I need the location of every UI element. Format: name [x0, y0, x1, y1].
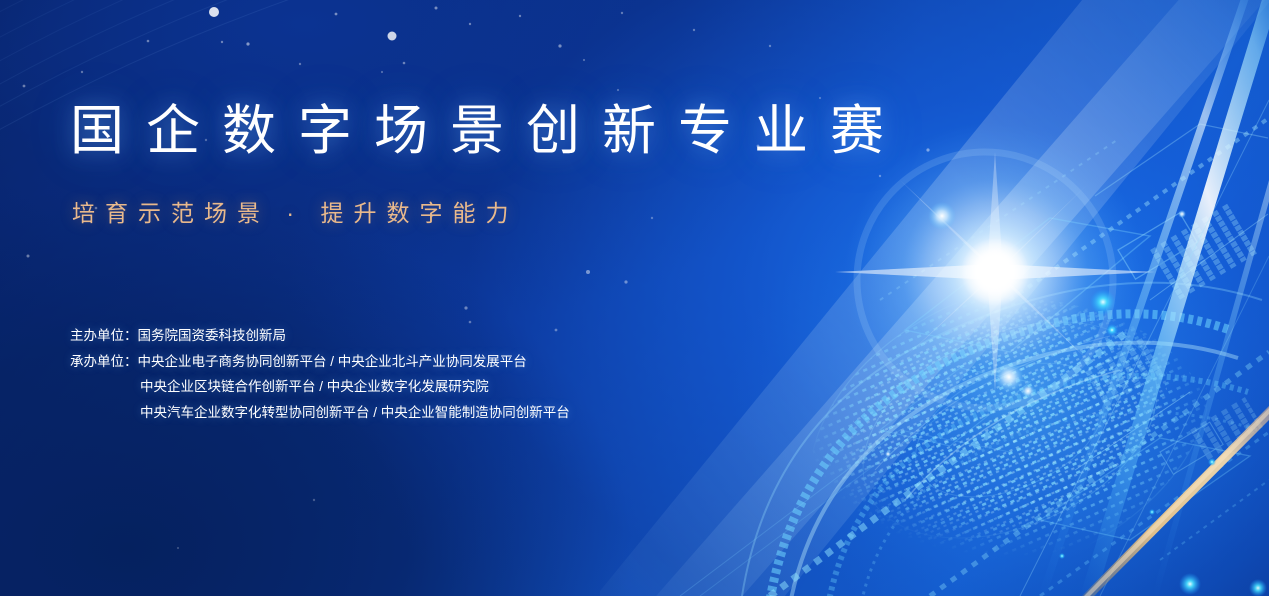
organizer-block: 主办单位：国务院国资委科技创新局 承办单位：中央企业电子商务协同创新平台 / 中… [70, 323, 570, 425]
banner-content: 国企数字场景创新专业赛 培育示范场景 · 提升数字能力 主办单位：国务院国资委科… [0, 0, 1269, 596]
page-title: 国企数字场景创新专业赛 [70, 101, 906, 161]
organizer-line-cohost-2: 中央企业区块链合作创新平台 / 中央企业数字化发展研究院 [70, 374, 570, 400]
event-banner: 国企数字场景创新专业赛 培育示范场景 · 提升数字能力 主办单位：国务院国资委科… [0, 0, 1269, 596]
organizer-line-host: 主办单位：国务院国资委科技创新局 [70, 323, 570, 349]
organizer-line-cohost-1: 承办单位：中央企业电子商务协同创新平台 / 中央企业北斗产业协同发展平台 [70, 349, 570, 375]
page-subtitle: 培育示范场景 · 提升数字能力 [72, 194, 518, 228]
organizer-line-cohost-3: 中央汽车企业数字化转型协同创新平台 / 中央企业智能制造协同创新平台 [70, 400, 570, 426]
